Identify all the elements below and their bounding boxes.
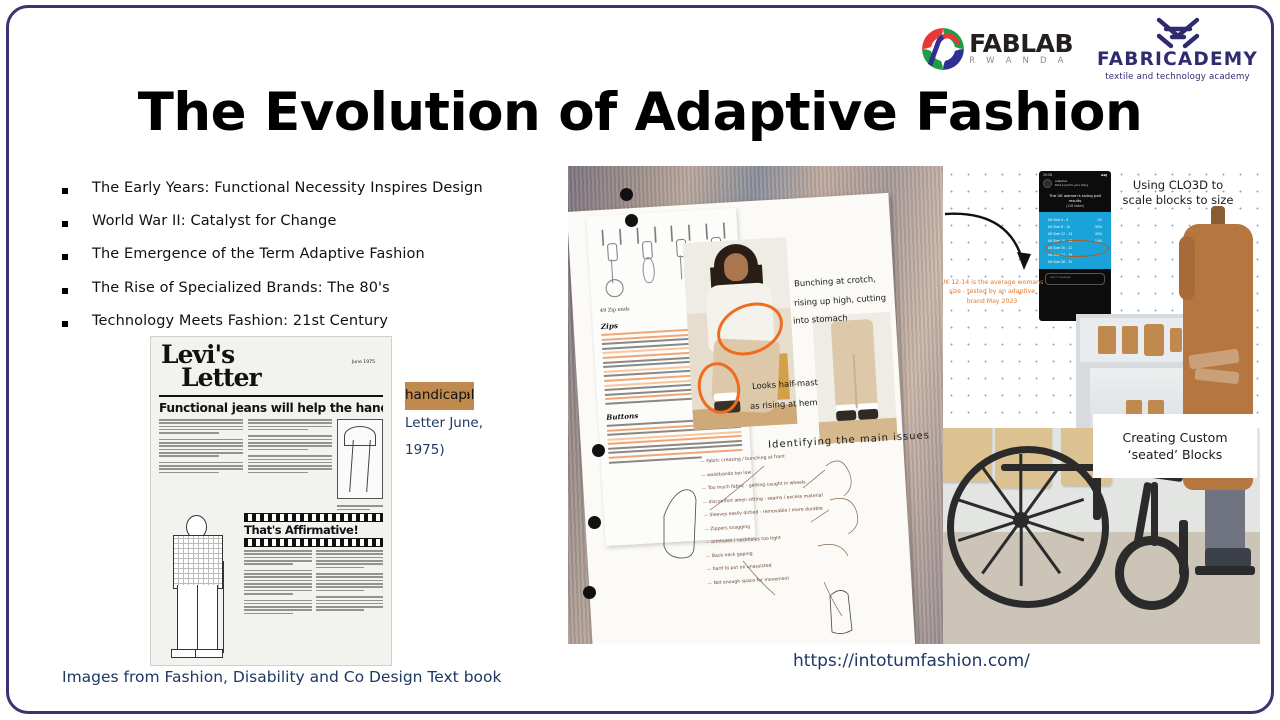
- levis-masthead: Levi's Letter: [161, 343, 381, 389]
- poll-option-label: UK Size 12 - 14: [1048, 232, 1072, 236]
- square-bullet-icon: [62, 288, 68, 294]
- poll-option[interactable]: UK Size 4 - 6 1%: [1039, 216, 1111, 223]
- dot-border-icon: [244, 513, 383, 522]
- list-item-label: World War II: Catalyst for Change: [92, 213, 336, 230]
- design-process-collage-image: 49 Zip ends Zips Buttons: [568, 166, 943, 644]
- poll-option[interactable]: UK Size 8 - 10 30%: [1039, 223, 1111, 230]
- note-item: Not enough space for movement: [707, 574, 827, 586]
- jeans-diagram-illustration: [337, 419, 383, 510]
- list-item: World War II: Catalyst for Change: [62, 213, 562, 230]
- poll-question: The UK women's sizing poll results: [1039, 189, 1111, 204]
- note-item: waistbands too low: [701, 466, 821, 478]
- fablab-logo: FABLAB R W A N D A: [922, 28, 1073, 70]
- wheelchair-caster: [1115, 536, 1189, 610]
- fabricademy-subtitle: textile and technology academy: [1105, 73, 1250, 82]
- dot-border-icon: [244, 538, 383, 547]
- page-title: The Evolution of Adaptive Fashion: [0, 82, 1280, 143]
- image-credit-text: Images from Fashion, Disability and Co D…: [62, 668, 501, 686]
- square-bullet-icon: [62, 221, 68, 227]
- zip-illustration: [601, 229, 623, 300]
- note-item: Too much fabric - getting caught in whee…: [702, 480, 822, 492]
- levis-headline: Functional jeans will help the handicap: [159, 401, 383, 415]
- phone-status-bar: 20:08 ▪▪▮: [1039, 171, 1111, 178]
- list-item: The Early Years: Functional Necessity In…: [62, 180, 562, 197]
- zip-illustration: [636, 227, 658, 298]
- affirmative-article: That's Affirmative!: [244, 513, 383, 663]
- curved-arrow-icon: [943, 204, 1049, 284]
- list-item-label: Technology Meets Fashion: 21st Century: [92, 313, 388, 330]
- average-size-note: UK 12-14 is the average womans size - te…: [943, 278, 1045, 306]
- divider: [159, 395, 383, 397]
- note-item: Back neck gaping: [706, 547, 826, 559]
- poll-option-label: UK Size 28 - 30: [1048, 260, 1072, 264]
- poll-option-value: 1%: [1097, 218, 1102, 222]
- poll-option-label: UK Size 8 - 10: [1048, 225, 1070, 229]
- binder-hole-icon: [592, 444, 605, 457]
- bullet-list: The Early Years: Functional Necessity In…: [62, 180, 562, 346]
- person-illustration: [159, 513, 239, 663]
- note-item: hard to put on unassisted: [707, 560, 827, 572]
- fablab-name: FABLAB: [969, 31, 1073, 56]
- note-item: Zippers snagging: [704, 520, 824, 532]
- fablab-subtitle: R W A N D A: [969, 57, 1073, 66]
- fabricademy-mark-icon: [1149, 16, 1207, 50]
- text-column: [248, 419, 332, 510]
- note-item: armholes / neckholes too tight: [705, 533, 825, 545]
- list-item-label: The Rise of Specialized Brands: The 80's: [92, 280, 390, 297]
- fabricademy-name: FABRICADEMY: [1097, 51, 1258, 70]
- phone-signal-icon: ▪▪▮: [1101, 173, 1107, 177]
- handwritten-issue-notes: Fabric creasing / bunching at front wais…: [700, 453, 828, 595]
- poll-vote-count: (128 Votes): [1039, 204, 1111, 212]
- text-column: [244, 550, 312, 616]
- list-item: The Emergence of the Term Adaptive Fashi…: [62, 246, 562, 263]
- note-item: Sleeves easily dirtied - removable / mor…: [703, 506, 823, 518]
- square-bullet-icon: [62, 188, 68, 194]
- fablab-mark-icon: [922, 28, 964, 70]
- poll-option[interactable]: UK Size 28 - 30: [1039, 258, 1111, 265]
- slide-canvas: FABLAB R W A N D A FABRICADEMY textile a…: [0, 0, 1280, 720]
- message-input[interactable]: Send message: [1045, 273, 1105, 285]
- binder-hole-icon: [588, 516, 601, 529]
- square-bullet-icon: [62, 321, 68, 327]
- note-item: discomfort when sitting - seams / excess…: [703, 493, 823, 505]
- levis-caption: Functional jeans for handicap (Levi's Le…: [405, 382, 535, 465]
- poll-account-sub: Post a poll to your story: [1055, 184, 1088, 187]
- caption-line-6: 1975): [405, 437, 535, 465]
- seated-blocks-caption: Creating Custom ‘seated’ Blocks: [1093, 414, 1257, 478]
- clo3d-and-blocks-collage-image: 20:08 ▪▪▮ adaptive Post a poll to your s…: [943, 166, 1260, 644]
- poll-account-header: adaptive Post a poll to your story: [1039, 178, 1111, 189]
- list-item: The Rise of Specialized Brands: The 80's: [62, 280, 562, 297]
- levis-letter-clipping-image: Levi's Letter June 1975 Functional jeans…: [150, 336, 392, 666]
- binder-hole-icon: [583, 586, 596, 599]
- poll-highlight-circle: [1045, 240, 1109, 257]
- trousers-detail-photo: [812, 312, 897, 444]
- levis-date: June 1975: [352, 360, 375, 365]
- binder-hole-icon: [620, 188, 633, 201]
- seated-caption-line-1: Creating Custom: [1122, 429, 1227, 447]
- poll-option[interactable]: UK Size 12 - 14 40%: [1039, 230, 1111, 237]
- list-item: Technology Meets Fashion: 21st Century: [62, 313, 562, 330]
- list-item-label: The Emergence of the Term Adaptive Fashi…: [92, 246, 425, 263]
- text-column: [316, 550, 384, 616]
- phone-time: 20:08: [1043, 173, 1052, 177]
- list-item-label: The Early Years: Functional Necessity In…: [92, 180, 483, 197]
- binder-hole-icon: [625, 214, 638, 227]
- poll-option-value: 30%: [1095, 225, 1102, 229]
- levis-masthead-line2: Letter: [181, 366, 381, 389]
- affirmative-title: That's Affirmative!: [244, 523, 383, 537]
- fabricademy-logo: FABRICADEMY textile and technology acade…: [1097, 16, 1258, 81]
- square-bullet-icon: [62, 254, 68, 260]
- source-url-link[interactable]: https://intotumfashion.com/: [793, 651, 1030, 671]
- caption-line-3: handicap: [405, 382, 467, 410]
- seated-caption-line-2: ‘seated’ Blocks: [1128, 446, 1223, 464]
- avatar: [1043, 179, 1052, 188]
- caption-line-5: Letter June,: [405, 410, 535, 438]
- text-column: [159, 419, 243, 510]
- poll-option-value: 40%: [1095, 232, 1102, 236]
- logo-group: FABLAB R W A N D A FABRICADEMY textile a…: [922, 16, 1258, 81]
- poll-option-label: UK Size 4 - 6: [1048, 218, 1068, 222]
